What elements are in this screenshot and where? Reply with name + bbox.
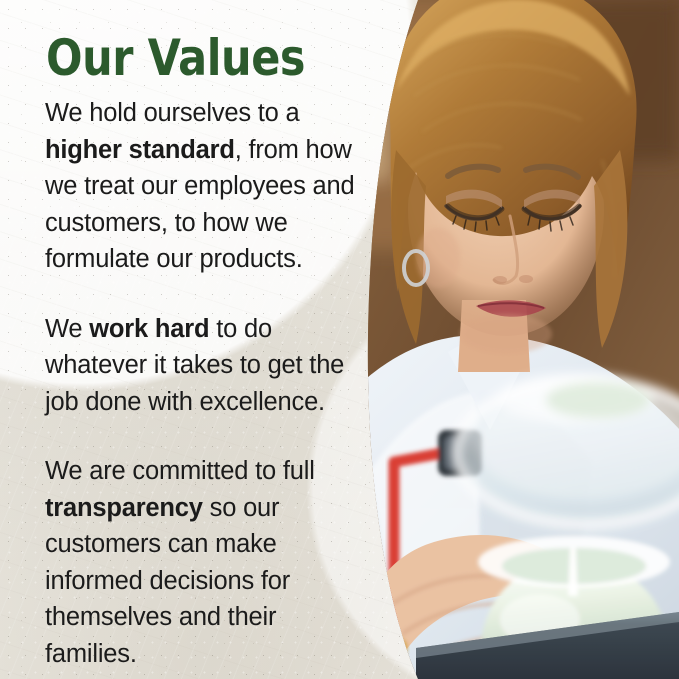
body-text: We are committed to full bbox=[45, 457, 315, 485]
emphasis-text: higher standard bbox=[45, 136, 235, 164]
emphasis-text: transparency bbox=[45, 494, 203, 522]
page-title: Our Values bbox=[46, 33, 305, 83]
values-body: We hold ourselves to a higher standard, … bbox=[45, 95, 365, 679]
paragraph-transparency: We are committed to full transparency so… bbox=[45, 453, 365, 672]
paragraph-work-hard: We work hard to do whatever it takes to … bbox=[45, 311, 365, 421]
emphasis-text: work hard bbox=[89, 315, 209, 343]
values-graphic: Our Values We hold ourselves to a higher… bbox=[0, 0, 679, 679]
body-text: We hold ourselves to a bbox=[45, 99, 300, 127]
body-text: We bbox=[45, 315, 89, 343]
text-column: Our Values We hold ourselves to a higher… bbox=[0, 0, 372, 679]
paragraph-higher-standard: We hold ourselves to a higher standard, … bbox=[45, 95, 365, 278]
